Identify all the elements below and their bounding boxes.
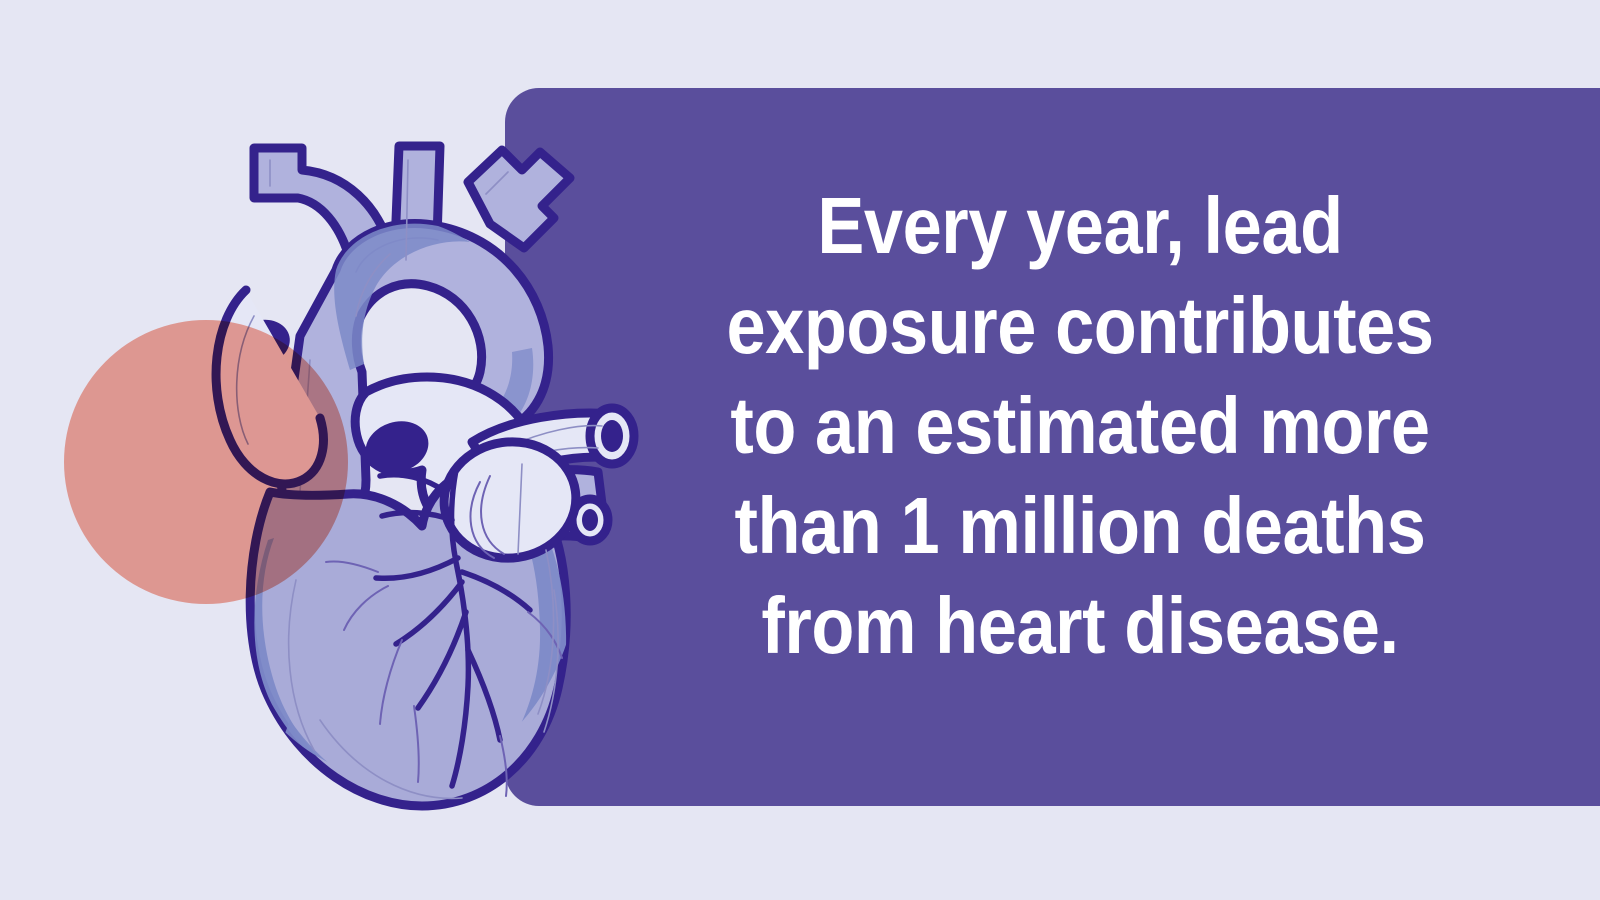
quote-line-1: Every year, lead (684, 176, 1476, 276)
quote-statement: Every year, lead exposure contributes to… (684, 176, 1476, 676)
quote-line-4: than 1 million deaths (684, 476, 1476, 576)
quote-line-3: to an estimated more (684, 376, 1476, 476)
anatomical-heart-illustration: .ol { stroke:#34228c; stroke-width:9; st… (150, 120, 650, 820)
left-subclavian-artery-shape (468, 150, 570, 248)
quote-line-5: from heart disease. (684, 576, 1476, 676)
quote-line-2: exposure contributes (684, 276, 1476, 376)
infographic-canvas: .ol { stroke:#34228c; stroke-width:9; st… (0, 0, 1600, 900)
